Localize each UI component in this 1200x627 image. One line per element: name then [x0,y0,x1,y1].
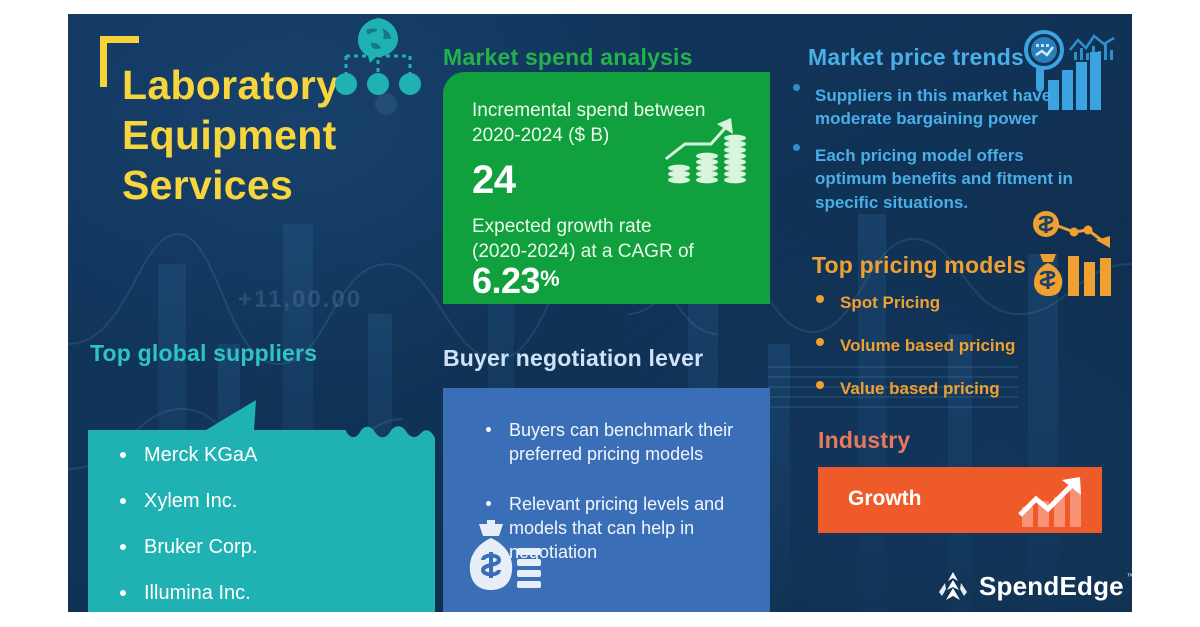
list-item: Merck KGaA [118,445,257,465]
list-item: Bruker Corp. [118,537,257,557]
coin-stacks-growth-icon [665,114,749,186]
globe-network-icon [330,16,426,100]
bullet-dot [793,144,800,151]
infographic-canvas: +11,00.00 Laboratory Equipment Services … [68,14,1132,612]
bullet-dot [120,544,126,550]
spendedge-logo: SpendEdge ™ [936,571,1124,602]
industry-status-label: Growth [848,487,922,511]
top-pricing-models-heading: Top pricing models [812,252,1026,279]
trend-point: Suppliers in this market have moderate b… [815,86,1051,128]
suppliers-panel: Merck KGaA Xylem Inc. Bruker Corp. Illum… [88,400,435,612]
page-title: Laboratory Equipment Services [122,60,339,210]
list-item: Volume based pricing [810,337,1015,354]
growth-arrow-chart-icon [1014,475,1088,527]
list-item: Buyers can benchmark their preferred pri… [481,418,743,466]
bullet-dot [816,295,824,303]
trademark-symbol: ™ [1127,572,1132,581]
industry-status-badge: Growth [818,467,1102,533]
money-bag-icon [465,520,541,592]
pricing-model: Value based pricing [840,379,1000,398]
list-item: Each pricing model offers optimum benefi… [790,144,1078,214]
bullet-dot [120,590,126,596]
page-title-line-2: Equipment [122,110,339,160]
suppliers-heading: Top global suppliers [90,340,317,367]
bullet-dot [120,498,126,504]
cagr-value-wrapper: 6.23% [472,260,559,302]
trend-point: Each pricing model offers optimum benefi… [815,146,1073,212]
spendedge-wordmark: SpendEdge ™ [979,571,1124,602]
supplier-name: Merck KGaA [144,444,257,466]
supplier-name: Bruker Corp. [144,536,257,558]
cagr-percent-symbol: % [540,266,559,291]
list-item: Value based pricing [810,380,1015,397]
bullet-dot [486,427,491,432]
growth-rate-label: Expected growth rate (2020-2024) at a CA… [472,214,694,264]
bullet-dot [793,84,800,91]
buyer-negotiation-heading: Buyer negotiation lever [443,345,703,372]
suppliers-list: Merck KGaA Xylem Inc. Bruker Corp. Illum… [118,445,257,612]
market-spend-heading: Market spend analysis [443,44,693,71]
supplier-name: Illumina Inc. [144,582,251,604]
list-item: Spot Pricing [810,294,1015,311]
growth-rate-label-line-1: Expected growth rate [472,214,694,239]
list-item: Illumina Inc. [118,583,257,603]
buyer-point: Buyers can benchmark their preferred pri… [509,420,733,464]
supplier-name: Xylem Inc. [144,490,237,512]
list-item: Xylem Inc. [118,491,257,511]
bullet-dot [120,452,126,458]
buyer-point: Relevant pricing levels and models that … [509,494,724,562]
bullet-dot [486,501,491,506]
market-price-trends-heading: Market price trends [808,44,1024,71]
industry-heading: Industry [818,427,910,454]
top-pricing-models-list: Spot Pricing Volume based pricing Value … [810,294,1015,423]
market-spend-panel: Incremental spend between 2020-2024 ($ B… [443,72,770,304]
incremental-spend-value: 24 [472,158,516,203]
page-title-line-1: Laboratory [122,60,339,110]
spendedge-arrow-mark-icon [936,572,970,602]
background-ticker-watermark: +11,00.00 [238,286,362,314]
pricing-model: Spot Pricing [840,293,940,312]
money-bag-declining-chart-icon [1030,210,1120,296]
cagr-value: 6.23 [472,260,540,301]
list-item: Suppliers in this market have moderate b… [790,84,1078,131]
market-price-trends-list: Suppliers in this market have moderate b… [790,84,1078,227]
pricing-model: Volume based pricing [840,336,1015,355]
bullet-dot [816,338,824,346]
page-title-line-3: Services [122,160,339,210]
spendedge-wordmark-text: SpendEdge [979,571,1124,601]
buyer-negotiation-panel: Buyers can benchmark their preferred pri… [443,388,770,612]
bullet-dot [816,381,824,389]
